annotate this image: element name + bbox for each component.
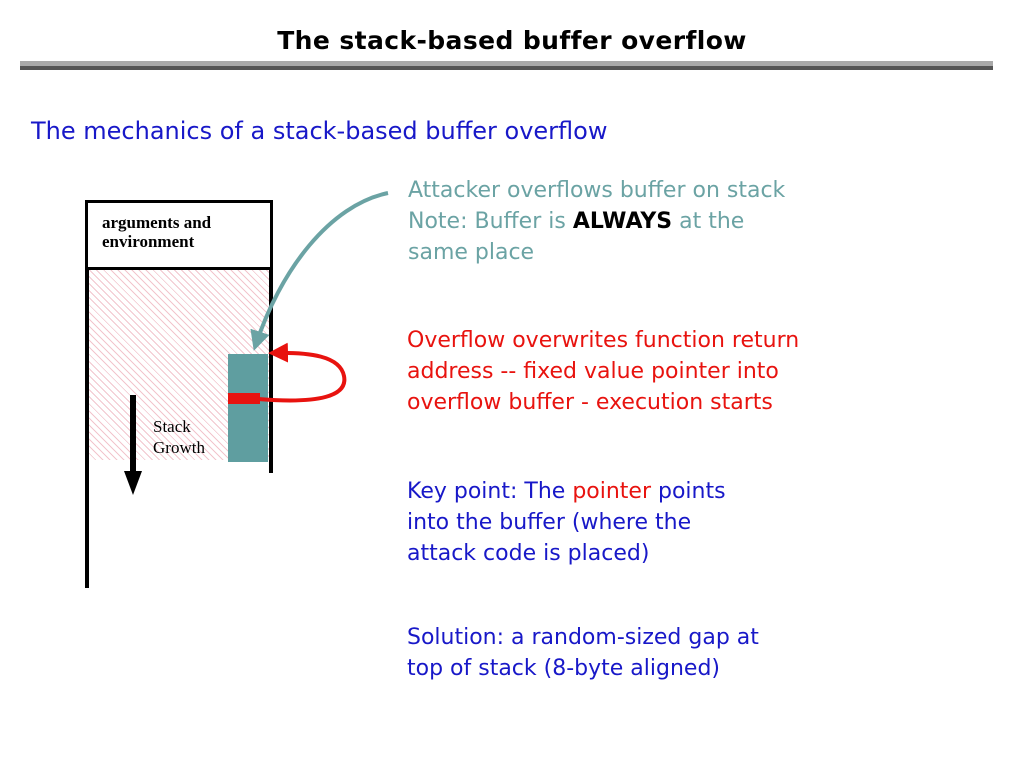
- callout-key-point: Key point: The pointer points into the b…: [407, 476, 867, 569]
- callout-attacker-emphasis: ALWAYS: [573, 209, 672, 234]
- callout-keypoint-emphasis: pointer: [572, 479, 651, 504]
- attack-buffer-block: [228, 354, 268, 462]
- callout-attacker-overflow: Attacker overflows buffer on stack Note:…: [408, 175, 928, 268]
- stack-right-border: [269, 270, 273, 473]
- arguments-environment-box: arguments and environment: [85, 200, 273, 270]
- stack-growth-arrow-icon: [122, 395, 144, 495]
- process-stack-memory-diagram: arguments and environment Stack Growth: [80, 196, 360, 596]
- slide-subtitle: The mechanics of a stack-based buffer ov…: [31, 117, 607, 145]
- callout-overflow-overwrites: Overflow overwrites function return addr…: [407, 325, 947, 418]
- overwritten-return-address-bar: [228, 393, 260, 404]
- divider-dark-bar: [20, 66, 993, 70]
- stack-left-border: [85, 270, 89, 588]
- arguments-environment-label: arguments and environment: [102, 213, 211, 251]
- callout-keypoint-part1: Key point: The: [407, 479, 572, 504]
- title-divider: [20, 61, 993, 70]
- callout-solution: Solution: a random-sized gap at top of s…: [407, 622, 887, 684]
- stack-growth-label: Stack Growth: [153, 416, 205, 458]
- page-title: The stack-based buffer overflow: [0, 26, 1024, 55]
